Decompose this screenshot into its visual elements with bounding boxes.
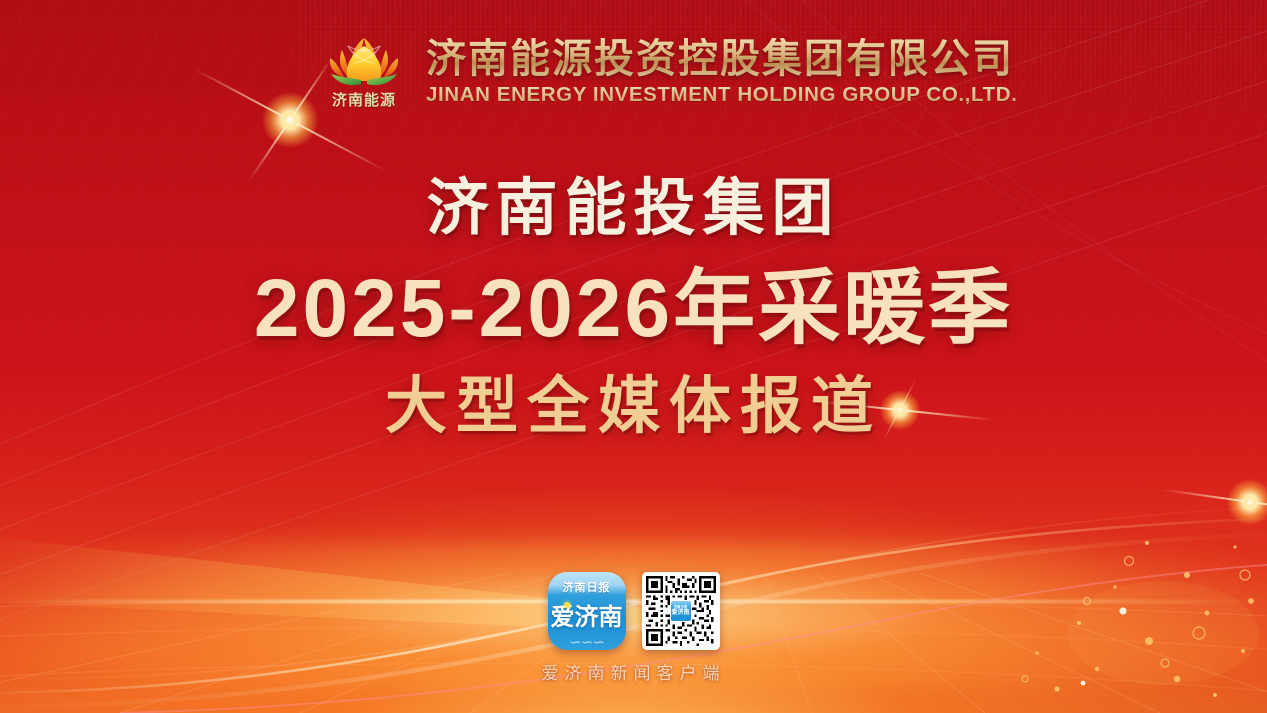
qr-center-logo-main: 爱济南	[671, 610, 689, 616]
promo-poster: 济南能源 济南能源投资控股集团有限公司 JINAN ENERGY INVESTM…	[0, 0, 1267, 713]
logo-sub-label: 济南能源	[332, 89, 396, 110]
app-icon-paper-label: 济南日报	[563, 579, 611, 595]
company-name-block: 济南能源投资控股集团有限公司 JINAN ENERGY INVESTMENT H…	[426, 30, 1017, 107]
footer-caption: 爱济南新闻客户端	[542, 659, 726, 684]
company-logo: 济南能源	[316, 30, 412, 110]
headline-block: 济南能投集团 2025-2026年采暖季 大型全媒体报道	[0, 178, 1267, 438]
aijinan-app-icon[interactable]: 济南日报 爱济南 ∽∽∽	[548, 572, 626, 650]
headline-line-3: 大型全媒体报道	[0, 376, 1267, 438]
app-icon-accent-dot	[564, 602, 570, 608]
app-icon-name-label: 爱济南	[551, 597, 623, 632]
company-header: 济南能源 济南能源投资控股集团有限公司 JINAN ENERGY INVESTM…	[316, 30, 1017, 110]
qr-code[interactable]: 济南日报 爱济南	[642, 572, 720, 650]
headline-line-2: 2025-2026年采暖季	[0, 268, 1267, 350]
footer-block: 济南日报 爱济南 ∽∽∽	[0, 572, 1267, 684]
company-name-en: JINAN ENERGY INVESTMENT HOLDING GROUP CO…	[426, 83, 1017, 107]
company-name-cn: 济南能源投资控股集团有限公司	[426, 38, 1017, 80]
qr-center-logo: 济南日报 爱济南	[670, 600, 692, 622]
lotus-flame-logo-icon	[318, 30, 410, 88]
headline-line-1: 济南能投集团	[0, 178, 1267, 240]
footer-badges-row: 济南日报 爱济南 ∽∽∽	[548, 572, 720, 650]
app-icon-wave-glyph: ∽∽∽	[569, 633, 604, 650]
